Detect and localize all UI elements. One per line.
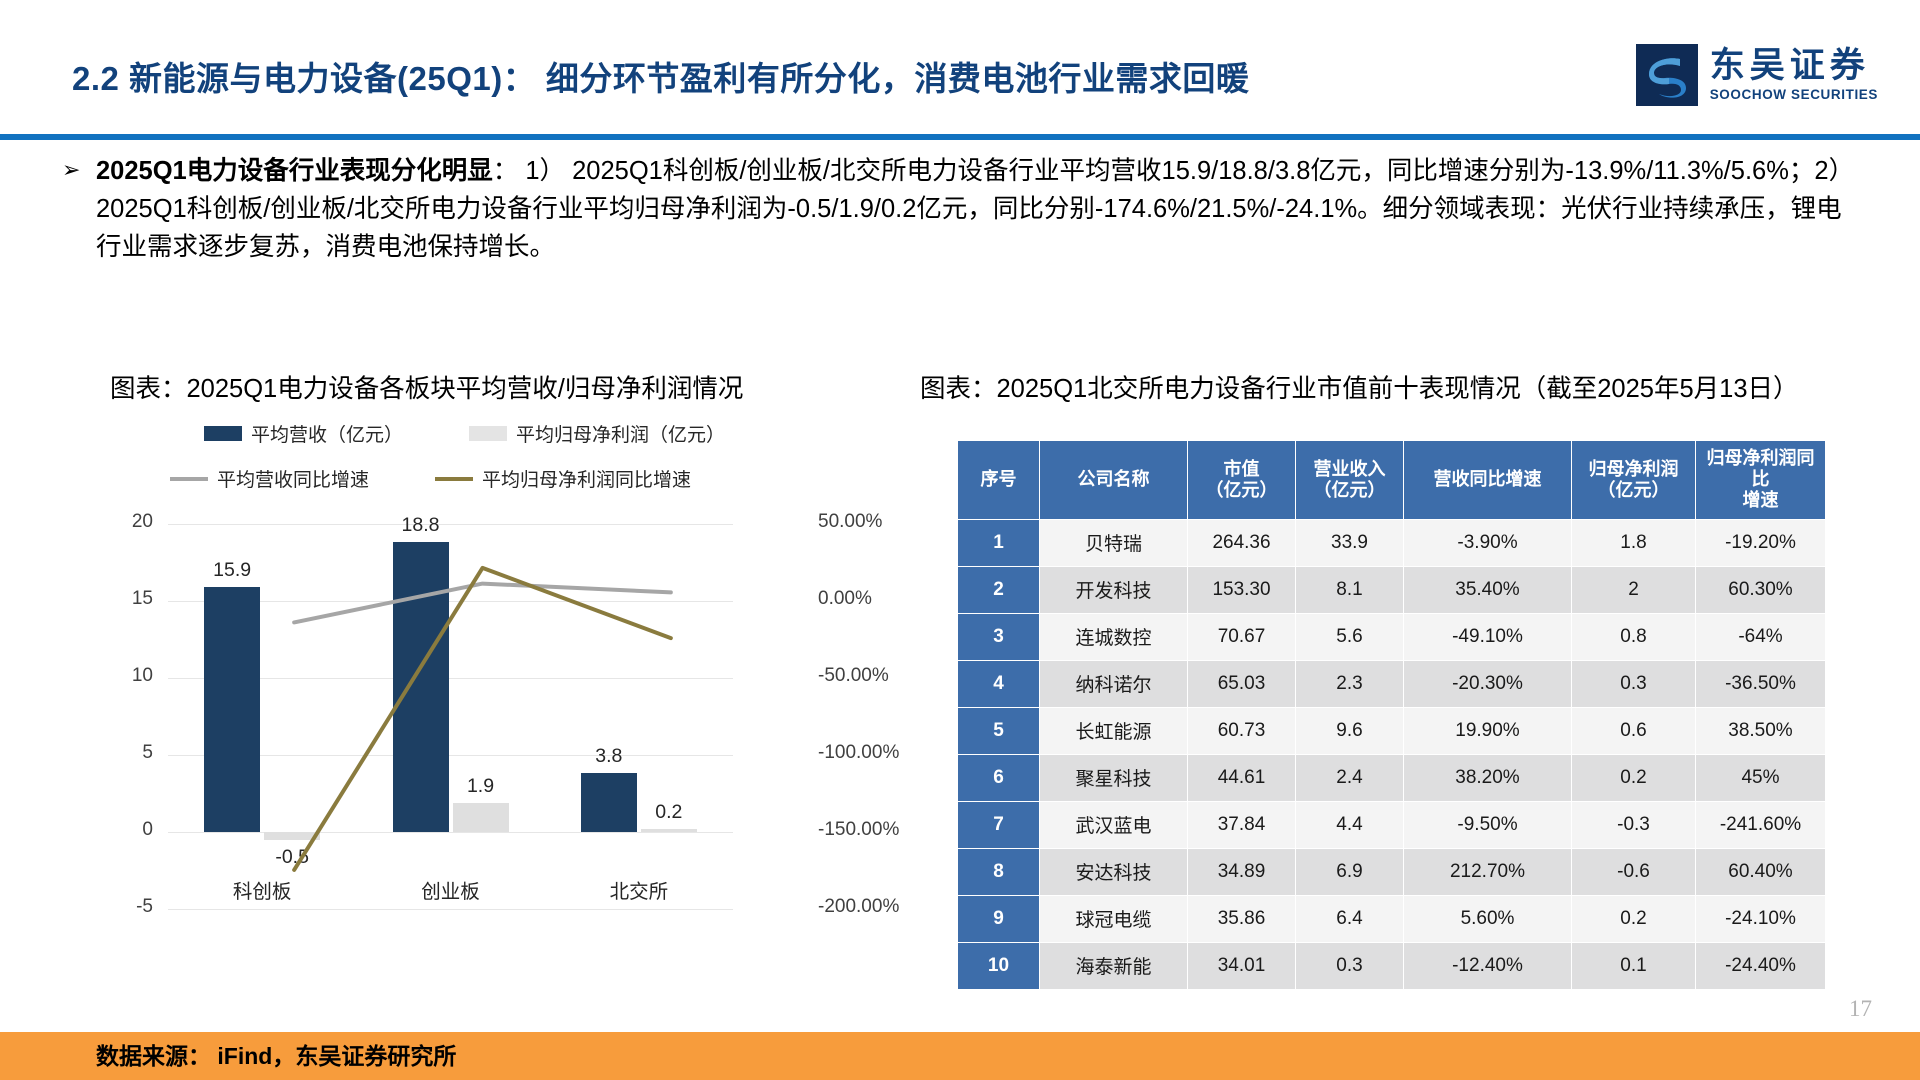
table-cell-np: 0.2 [1572, 895, 1696, 942]
table-cell-rev: 9.6 [1296, 707, 1404, 754]
table-body: 1贝特瑞264.3633.9-3.90%1.8-19.20%2开发科技153.3… [958, 519, 1826, 989]
table-header-cell[interactable]: 序号 [958, 441, 1040, 520]
table-cell-cap: 264.36 [1188, 519, 1296, 566]
y-axis-left-tick: 20 [132, 511, 153, 533]
table-cell-idx: 6 [958, 754, 1040, 801]
table-cell-np: 0.1 [1572, 942, 1696, 989]
table-cell-idx: 8 [958, 848, 1040, 895]
table-cell-np-yoy: 38.50% [1696, 707, 1826, 754]
y-axis-right-tick: -50.00% [818, 665, 889, 687]
legend-item-revenue-growth: 平均营收同比增速 [170, 465, 435, 492]
legend-item-profit-growth: 平均归母净利润同比增速 [435, 465, 691, 492]
table-row[interactable]: 9球冠电缆35.866.45.60%0.2-24.10% [958, 895, 1826, 942]
table-cell-cap: 60.73 [1188, 707, 1296, 754]
legend-swatch-avg-profit [469, 426, 507, 441]
table-caption: 图表：2025Q1北交所电力设备行业市值前十表现情况（截至2025年5月13日） [920, 368, 1799, 405]
table-header-cell[interactable]: 营收同比增速 [1404, 441, 1572, 520]
table-cell-rev-yoy: -20.30% [1404, 660, 1572, 707]
chart-inner: 20151050-550.00%0.00%-50.00%-100.00%-150… [168, 524, 733, 909]
bullet-paragraph: ➢ 2025Q1电力设备行业表现分化明显： 1） 2025Q1科创板/创业板/北… [62, 152, 1862, 266]
chart-line [294, 568, 671, 870]
table-cell-name: 开发科技 [1040, 566, 1188, 613]
table-cell-np-yoy: 60.30% [1696, 566, 1826, 613]
y-axis-left-tick: 0 [142, 819, 153, 841]
legend-swatch-profit-growth [435, 477, 473, 481]
table-cell-np-yoy: -24.10% [1696, 895, 1826, 942]
table-cell-name: 球冠电缆 [1040, 895, 1188, 942]
bullet-arrow-icon: ➢ [62, 152, 96, 190]
brand-logo: 东吴证券 SOOCHOW SECURITIES [1636, 44, 1878, 106]
table-cell-rev-yoy: 212.70% [1404, 848, 1572, 895]
table-row[interactable]: 6聚星科技44.612.438.20%0.245% [958, 754, 1826, 801]
table-cell-rev: 33.9 [1296, 519, 1404, 566]
table-cell-np: 1.8 [1572, 519, 1696, 566]
chart-legend: 平均营收（亿元） 平均归母净利润（亿元） 平均营收同比增速 平均归母净利润同比增… [158, 420, 878, 492]
table-cell-rev: 6.4 [1296, 895, 1404, 942]
data-source-note: 数据来源： iFind，东吴证券研究所 [96, 1037, 456, 1071]
table-cell-np-yoy: 45% [1696, 754, 1826, 801]
table-cell-name: 海泰新能 [1040, 942, 1188, 989]
table-cell-rev-yoy: -49.10% [1404, 613, 1572, 660]
table-cell-np-yoy: 60.40% [1696, 848, 1826, 895]
table-cell-rev: 2.4 [1296, 754, 1404, 801]
table-header-cell[interactable]: 归母净利润（亿元） [1572, 441, 1696, 520]
table-row[interactable]: 5长虹能源60.739.619.90%0.638.50% [958, 707, 1826, 754]
chart-caption: 图表：2025Q1电力设备各板块平均营收/归母净利润情况 [110, 368, 743, 405]
table-cell-rev: 6.9 [1296, 848, 1404, 895]
table-cell-np: 0.3 [1572, 660, 1696, 707]
table-cell-idx: 1 [958, 519, 1040, 566]
table-row[interactable]: 10海泰新能34.010.3-12.40%0.1-24.40% [958, 942, 1826, 989]
table-row[interactable]: 8安达科技34.896.9212.70%-0.660.40% [958, 848, 1826, 895]
top-ten-market-cap-table: 序号公司名称市值（亿元）营业收入（亿元）营收同比增速归母净利润（亿元）归母净利润… [957, 440, 1826, 990]
legend-label-avg-profit: 平均归母净利润（亿元） [516, 420, 725, 447]
table-cell-np-yoy: -64% [1696, 613, 1826, 660]
page-number: 17 [1849, 996, 1872, 1022]
table-header-cell[interactable]: 归母净利润同比增速 [1696, 441, 1826, 520]
y-axis-left-tick: 5 [142, 742, 153, 764]
table-cell-name: 连城数控 [1040, 613, 1188, 660]
table-cell-name: 长虹能源 [1040, 707, 1188, 754]
table-cell-cap: 34.01 [1188, 942, 1296, 989]
table-row[interactable]: 7武汉蓝电37.844.4-9.50%-0.3-241.60% [958, 801, 1826, 848]
chart-line-series [168, 524, 733, 909]
table-cell-rev: 5.6 [1296, 613, 1404, 660]
legend-label-avg-revenue: 平均营收（亿元） [251, 420, 403, 447]
table-cell-np: -0.3 [1572, 801, 1696, 848]
table-cell-np: 2 [1572, 566, 1696, 613]
table-cell-idx: 3 [958, 613, 1040, 660]
table-cell-np: 0.6 [1572, 707, 1696, 754]
y-axis-left-tick: -5 [136, 896, 153, 918]
table-header-cell[interactable]: 公司名称 [1040, 441, 1188, 520]
table-cell-cap: 70.67 [1188, 613, 1296, 660]
table-cell-cap: 34.89 [1188, 848, 1296, 895]
table-cell-idx: 4 [958, 660, 1040, 707]
table-cell-rev-yoy: 35.40% [1404, 566, 1572, 613]
table-cell-cap: 65.03 [1188, 660, 1296, 707]
y-axis-right-tick: 0.00% [818, 588, 872, 610]
table-cell-np-yoy: -241.60% [1696, 801, 1826, 848]
table-cell-idx: 9 [958, 895, 1040, 942]
table-header-row: 序号公司名称市值（亿元）营业收入（亿元）营收同比增速归母净利润（亿元）归母净利润… [958, 441, 1826, 520]
bullet-lead: 2025Q1电力设备行业表现分化明显 [96, 157, 493, 185]
y-axis-left-tick: 10 [132, 665, 153, 687]
table-cell-np-yoy: -36.50% [1696, 660, 1826, 707]
page-title: 2.2 新能源与电力设备(25Q1)： 细分环节盈利有所分化，消费电池行业需求回… [72, 52, 1249, 100]
table-cell-rev-yoy: -3.90% [1404, 519, 1572, 566]
y-axis-right-tick: -150.00% [818, 819, 899, 841]
y-axis-right-tick: 50.00% [818, 511, 882, 533]
table-cell-cap: 44.61 [1188, 754, 1296, 801]
table-cell-idx: 5 [958, 707, 1040, 754]
soochow-logo-icon [1636, 44, 1698, 106]
table-cell-rev: 2.3 [1296, 660, 1404, 707]
table-cell-name: 贝特瑞 [1040, 519, 1188, 566]
table-cell-name: 安达科技 [1040, 848, 1188, 895]
table-cell-rev-yoy: 38.20% [1404, 754, 1572, 801]
table-cell-np: 0.2 [1572, 754, 1696, 801]
table-cell-idx: 7 [958, 801, 1040, 848]
legend-swatch-revenue-growth [170, 477, 208, 481]
table-cell-name: 纳科诺尔 [1040, 660, 1188, 707]
legend-swatch-avg-revenue [204, 426, 242, 441]
legend-label-profit-growth: 平均归母净利润同比增速 [482, 465, 691, 492]
legend-label-revenue-growth: 平均营收同比增速 [217, 465, 369, 492]
table-cell-rev: 4.4 [1296, 801, 1404, 848]
table-cell-name: 武汉蓝电 [1040, 801, 1188, 848]
legend-item-avg-profit: 平均归母净利润（亿元） [469, 420, 725, 447]
table-header-cell[interactable]: 营业收入（亿元） [1296, 441, 1404, 520]
table-cell-rev-yoy: -9.50% [1404, 801, 1572, 848]
table-cell-name: 聚星科技 [1040, 754, 1188, 801]
y-axis-left-tick: 15 [132, 588, 153, 610]
bullet-body: 2025Q1电力设备行业表现分化明显： 1） 2025Q1科创板/创业板/北交所… [96, 152, 1862, 266]
table-row[interactable]: 1贝特瑞264.3633.9-3.90%1.8-19.20% [958, 519, 1826, 566]
table-row[interactable]: 3连城数控70.675.6-49.10%0.8-64% [958, 613, 1826, 660]
table-cell-cap: 35.86 [1188, 895, 1296, 942]
table-cell-rev-yoy: 19.90% [1404, 707, 1572, 754]
table-cell-idx: 2 [958, 566, 1040, 613]
y-axis-right-tick: -100.00% [818, 742, 899, 764]
y-axis-right-tick: -200.00% [818, 896, 899, 918]
table-cell-np-yoy: -19.20% [1696, 519, 1826, 566]
logo-chinese-name: 东吴证券 [1710, 48, 1878, 85]
table-cell-np: 0.8 [1572, 613, 1696, 660]
table-row[interactable]: 4纳科诺尔65.032.3-20.30%0.3-36.50% [958, 660, 1826, 707]
table-cell-cap: 153.30 [1188, 566, 1296, 613]
table-row[interactable]: 2开发科技153.308.135.40%260.30% [958, 566, 1826, 613]
legend-item-avg-revenue: 平均营收（亿元） [204, 420, 469, 447]
table-cell-rev-yoy: 5.60% [1404, 895, 1572, 942]
table-header-cell[interactable]: 市值（亿元） [1188, 441, 1296, 520]
header-divider [0, 134, 1920, 140]
table-cell-np: -0.6 [1572, 848, 1696, 895]
table-cell-rev: 0.3 [1296, 942, 1404, 989]
bar-line-chart: 平均营收（亿元） 平均归母净利润（亿元） 平均营收同比增速 平均归母净利润同比增… [100, 420, 930, 1000]
table-cell-cap: 37.84 [1188, 801, 1296, 848]
logo-english-name: SOOCHOW SECURITIES [1710, 87, 1878, 102]
table-cell-np-yoy: -24.40% [1696, 942, 1826, 989]
chart-plot-area: 20151050-550.00%0.00%-50.00%-100.00%-150… [100, 516, 930, 996]
table-cell-rev: 8.1 [1296, 566, 1404, 613]
table-cell-idx: 10 [958, 942, 1040, 989]
chart-gridline [168, 909, 733, 910]
table-cell-rev-yoy: -12.40% [1404, 942, 1572, 989]
